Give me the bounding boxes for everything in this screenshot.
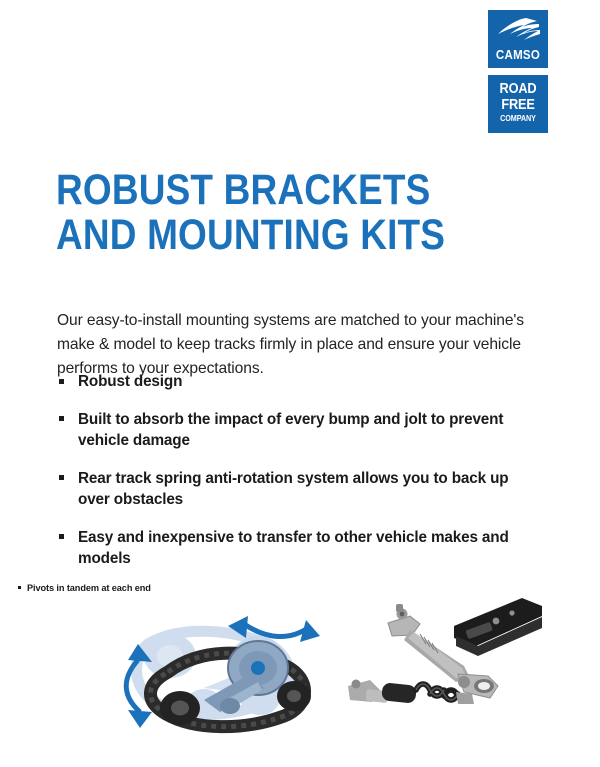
pivot-arrow-top-head-right (300, 620, 320, 642)
list-item: Robust design (57, 371, 527, 393)
bullet-square-icon (18, 586, 21, 589)
list-item-label: Easy and inexpensive to transfer to othe… (78, 529, 509, 568)
bullet-square-icon (59, 416, 64, 421)
anti-rotation-spring (348, 680, 474, 705)
camso-swoosh-icon (496, 17, 540, 43)
camso-wordmark: CAMSO (490, 49, 545, 62)
list-item-label: Built to absorb the impact of every bump… (78, 411, 503, 450)
list-item-label: Robust design (78, 373, 182, 390)
list-item: Built to absorb the impact of every bump… (57, 409, 527, 452)
track-system-pivot-illustration (108, 600, 348, 760)
pivot-arrow-left-head-bottom (128, 710, 152, 728)
road-free-line-1: ROAD (496, 82, 540, 97)
bullet-square-icon (59, 379, 64, 384)
logo-stack: CAMSO ROAD FREE COMPANY (488, 10, 548, 133)
camso-logo: CAMSO (488, 10, 548, 68)
list-item: Easy and inexpensive to transfer to othe… (57, 527, 527, 570)
footnote-label: Pivots in tandem at each end (27, 583, 151, 593)
bullet-square-icon (59, 475, 64, 480)
bullet-square-icon (59, 534, 64, 539)
feature-list: Robust design Built to absorb the impact… (57, 371, 527, 586)
list-item-label: Rear track spring anti-rotation system a… (78, 470, 508, 509)
page-title: ROBUST BRACKETS AND MOUNTING KITS (56, 168, 486, 258)
intro-paragraph: Our easy-to-install mounting systems are… (57, 309, 527, 381)
footnote: Pivots in tandem at each end (18, 582, 151, 594)
mounting-hardware-photo (336, 590, 546, 730)
road-free-line-2: FREE (496, 98, 540, 113)
page-title-line-2: AND MOUNTING KITS (56, 213, 426, 258)
page-title-line-1: ROBUST BRACKETS (56, 168, 426, 213)
road-free-company-logo: ROAD FREE COMPANY (488, 75, 548, 133)
rail-bracket (454, 598, 542, 656)
list-item: Rear track spring anti-rotation system a… (57, 468, 527, 511)
road-free-line-3: COMPANY (496, 115, 540, 123)
